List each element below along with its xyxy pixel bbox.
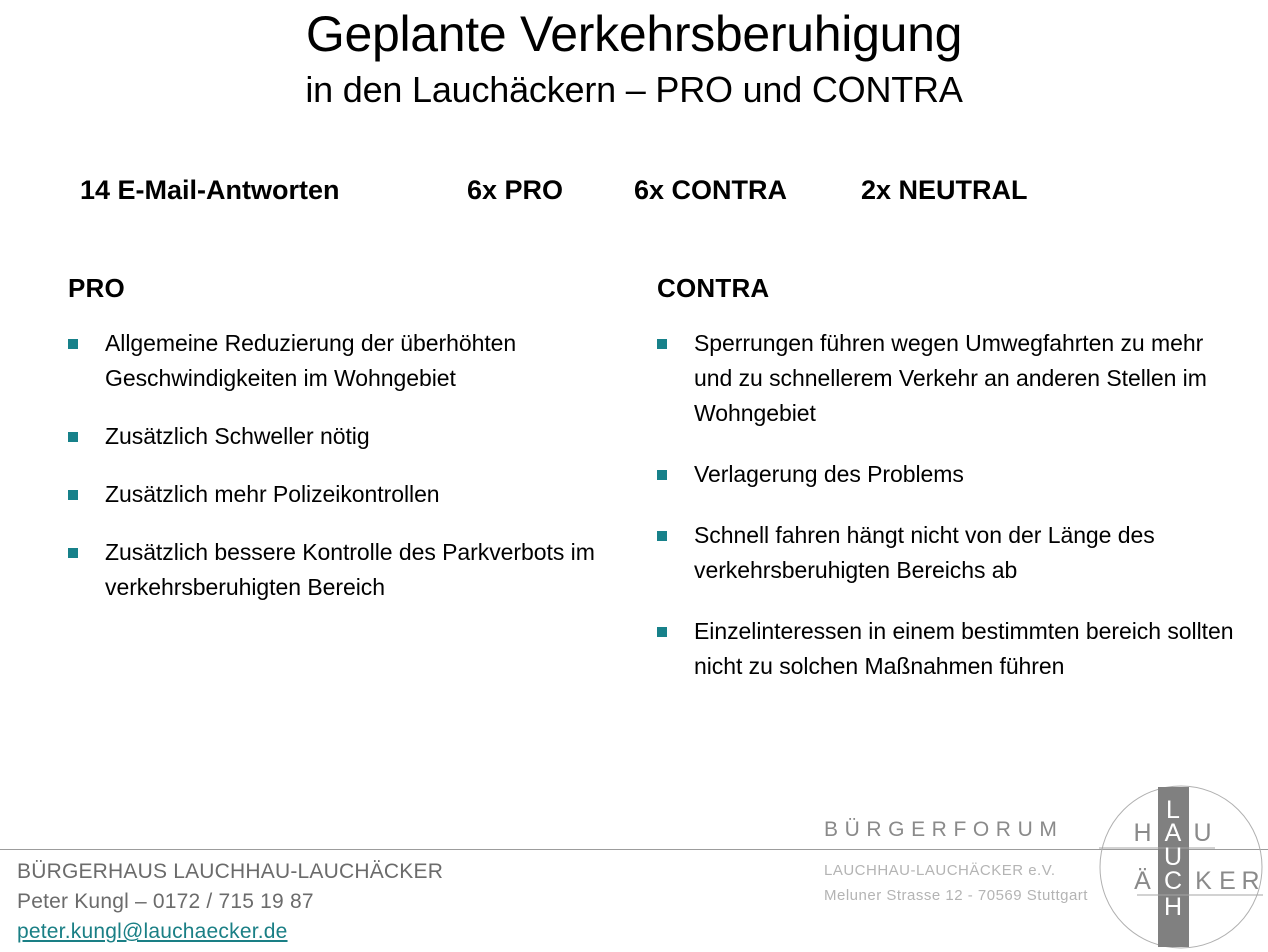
contra-column: CONTRA Sperrungen führen wegen Umwegfahr… [657,272,1237,710]
logo-letter-h-hau: H [1133,819,1152,847]
logo-letter-ae-acker: Ä [1134,867,1152,895]
list-item: Sperrungen führen wegen Umwegfahrten zu … [657,326,1237,431]
brand-title: BÜRGERFORUM [824,816,1104,844]
square-bullet-icon [68,490,78,500]
brand-address: Meluner Strasse 12 - 70569 Stuttgart [824,883,1104,908]
square-bullet-icon [68,548,78,558]
contra-bullet-list: Sperrungen führen wegen Umwegfahrten zu … [657,326,1237,684]
square-bullet-icon [657,531,667,541]
contra-column-heading: CONTRA [657,272,1237,304]
list-item-label: Zusätzlich bessere Kontrolle des Parkver… [105,539,595,600]
list-item-label: Einzelinteressen in einem bestimmten ber… [694,618,1233,679]
footer-email-link[interactable]: peter.kungl@lauchaecker.de [17,917,288,947]
logo-letter-c: C [1164,867,1183,895]
list-item: Schnell fahren hängt nicht von der Länge… [657,518,1237,588]
square-bullet-icon [657,470,667,480]
list-item-label: Zusätzlich Schweller nötig [105,423,370,449]
stat-total-responses: 14 E-Mail-Antworten [80,170,340,210]
logo-letter-k-acker: K [1195,867,1213,895]
square-bullet-icon [657,339,667,349]
list-item: Zusätzlich bessere Kontrolle des Parkver… [68,535,643,605]
page-subtitle: in den Lauchäckern – PRO und CONTRA [0,66,1268,114]
stat-contra-count: 6x CONTRA [634,170,787,210]
list-item-label: Sperrungen führen wegen Umwegfahrten zu … [694,330,1207,426]
footer-brand-block: BÜRGERFORUM LAUCHHAU-LAUCHÄCKER e.V. Mel… [824,816,1104,908]
stat-neutral-count: 2x NEUTRAL [861,170,1028,210]
logo-letter-e-acker: E [1219,867,1237,895]
footer-contact-block: BÜRGERHAUS LAUCHHAU-LAUCHÄCKER Peter Kun… [17,857,537,947]
list-item-label: Zusätzlich mehr Polizeikontrollen [105,481,440,507]
list-item: Verlagerung des Problems [657,457,1237,492]
logo-letter-r-acker: R [1241,867,1260,895]
pro-column: PRO Allgemeine Reduzierung der überhöhte… [68,272,643,605]
list-item: Einzelinteressen in einem bestimmten ber… [657,614,1237,684]
list-item: Zusätzlich Schweller nötig [68,419,643,454]
logo-svg: L A U C H H U Ä K E R [1099,785,1263,949]
square-bullet-icon [68,339,78,349]
brand-association-name: LAUCHHAU-LAUCHÄCKER e.V. [824,858,1104,883]
slide-title-block: Geplante Verkehrsberuhigung in den Lauch… [0,4,1268,114]
logo-letter-h-vertical: H [1164,893,1183,921]
list-item-label: Verlagerung des Problems [694,461,964,487]
list-item: Allgemeine Reduzierung der überhöhten Ge… [68,326,643,396]
square-bullet-icon [68,432,78,442]
pro-bullet-list: Allgemeine Reduzierung der überhöhten Ge… [68,326,643,605]
footer-organization: BÜRGERHAUS LAUCHHAU-LAUCHÄCKER [17,857,537,887]
list-item-label: Schnell fahren hängt nicht von der Länge… [694,522,1155,583]
square-bullet-icon [657,627,667,637]
lauchhau-lauchaecker-logo: L A U C H H U Ä K E R [1099,785,1263,949]
logo-letter-u-hau: U [1193,819,1212,847]
footer-contact-person: Peter Kungl – 0172 / 715 19 87 [17,887,537,917]
stat-pro-count: 6x PRO [467,170,563,210]
page-title: Geplante Verkehrsberuhigung [0,4,1268,64]
statistics-row: 14 E-Mail-Antworten 6x PRO 6x CONTRA 2x … [0,170,1268,212]
list-item-label: Allgemeine Reduzierung der überhöhten Ge… [105,330,516,391]
pro-column-heading: PRO [68,272,643,304]
list-item: Zusätzlich mehr Polizeikontrollen [68,477,643,512]
